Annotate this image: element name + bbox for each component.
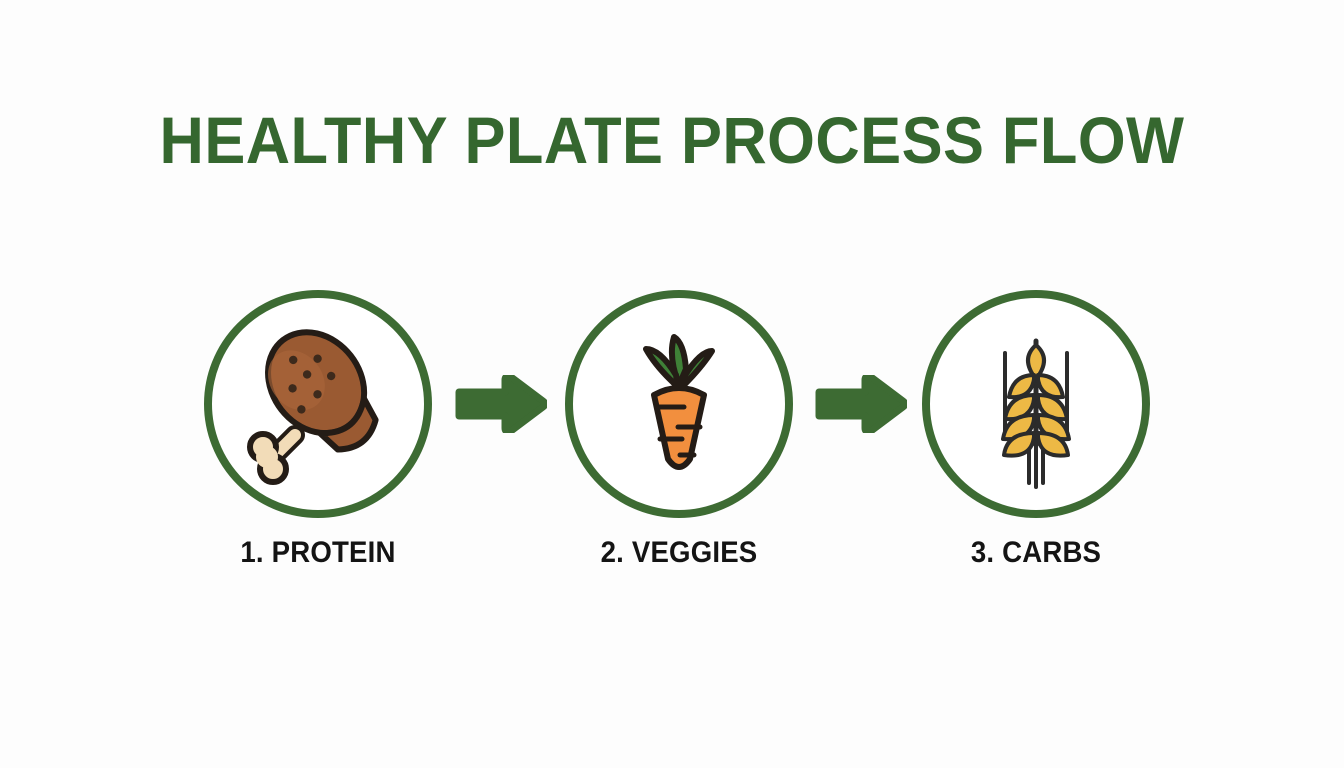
arrow-right-icon (455, 375, 547, 433)
step-icon-container-3 (922, 290, 1150, 518)
wheat-stalk-icon (951, 319, 1121, 489)
flow-arrow-1 (455, 375, 547, 433)
step-icon-container-1 (204, 290, 432, 518)
diagram-canvas: HEALTHY PLATE PROCESS FLOW (0, 0, 1344, 768)
chicken-drumstick-icon (233, 319, 403, 489)
flow-arrow-2 (815, 375, 907, 433)
step-icon-container-2 (565, 290, 793, 518)
step-label-protein: 1. PROTEIN (174, 536, 461, 570)
flow-step-protein[interactable]: 1. PROTEIN (202, 288, 434, 588)
arrow-right-icon (815, 375, 907, 433)
process-flow: 1. PROTEIN (0, 288, 1344, 588)
step-label-carbs: 3. CARBS (892, 536, 1179, 570)
step-label-veggies: 2. VEGGIES (535, 536, 822, 570)
page-title: HEALTHY PLATE PROCESS FLOW (47, 104, 1297, 176)
carrot-icon (594, 319, 764, 489)
flow-step-veggies[interactable]: 2. VEGGIES (563, 288, 795, 588)
flow-step-carbs[interactable]: 3. CARBS (920, 288, 1152, 588)
